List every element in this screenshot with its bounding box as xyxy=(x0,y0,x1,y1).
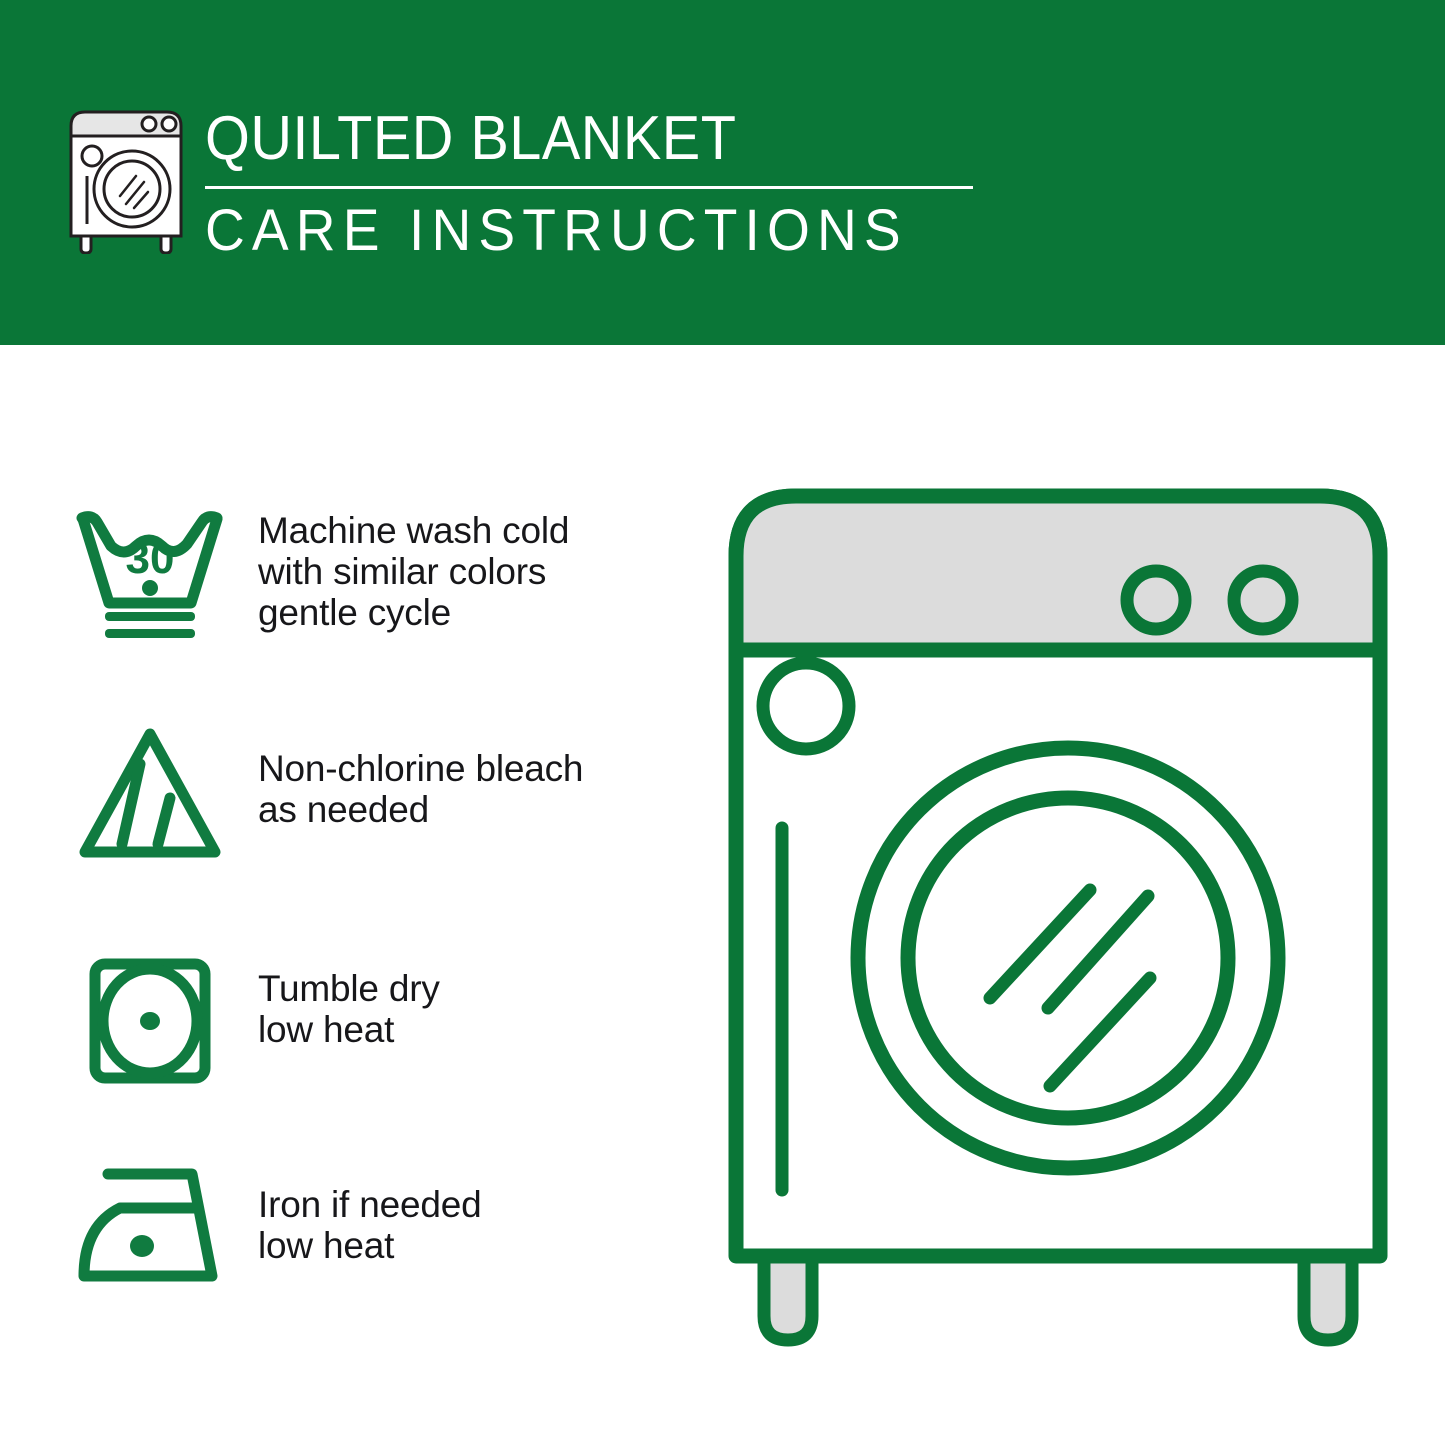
care-text-wash: Machine wash cold with similar colors ge… xyxy=(258,500,569,633)
care-instructions-page: QUILTED BLANKET CARE INSTRUCTIONS 30 Mac… xyxy=(0,0,1445,1445)
dryer-dot-icon xyxy=(140,1012,160,1030)
iron-outline xyxy=(84,1174,212,1276)
care-line: with similar colors xyxy=(258,551,569,592)
gentle-bar-1 xyxy=(105,612,195,621)
care-line: Non-chlorine bleach xyxy=(258,748,583,789)
care-line: low heat xyxy=(258,1009,440,1050)
care-line: Machine wash cold xyxy=(258,510,569,551)
care-line: Tumble dry xyxy=(258,968,440,1009)
care-line: as needed xyxy=(258,789,583,830)
care-text-bleach: Non-chlorine bleach as needed xyxy=(258,722,583,830)
wash-temperature-label: 30 xyxy=(126,534,175,583)
washing-machine-icon xyxy=(62,104,190,254)
care-row-bleach: Non-chlorine bleach as needed xyxy=(70,722,690,872)
iron-dot-icon xyxy=(130,1235,154,1257)
bleach-triangle-stripes-icon xyxy=(70,722,230,872)
header-title-block: QUILTED BLANKET CARE INSTRUCTIONS xyxy=(205,103,995,264)
care-row-tumble-dry: Tumble dry low heat xyxy=(70,946,690,1096)
care-line: gentle cycle xyxy=(258,592,569,633)
iron-one-dot-icon xyxy=(70,1152,230,1302)
care-line: low heat xyxy=(258,1225,481,1266)
page-title: QUILTED BLANKET xyxy=(205,103,940,175)
care-text-tumble-dry: Tumble dry low heat xyxy=(258,946,440,1050)
wash-tub-30-icon: 30 xyxy=(70,500,230,650)
care-text-iron: Iron if needed low heat xyxy=(258,1152,481,1266)
wash-dot-icon xyxy=(142,580,158,596)
care-line: Iron if needed xyxy=(258,1184,481,1225)
washing-machine-illustration xyxy=(718,478,1398,1358)
triangle-outline xyxy=(85,734,215,852)
title-divider xyxy=(205,186,973,189)
care-row-wash: 30 Machine wash cold with similar colors… xyxy=(70,500,690,650)
care-row-iron: Iron if needed low heat xyxy=(70,1152,690,1302)
gentle-bar-2 xyxy=(105,629,195,638)
header-band: QUILTED BLANKET CARE INSTRUCTIONS xyxy=(0,0,1445,345)
page-subtitle: CARE INSTRUCTIONS xyxy=(205,198,956,264)
tumble-dry-one-dot-icon xyxy=(70,946,230,1096)
bleach-stripe-2 xyxy=(158,798,170,844)
